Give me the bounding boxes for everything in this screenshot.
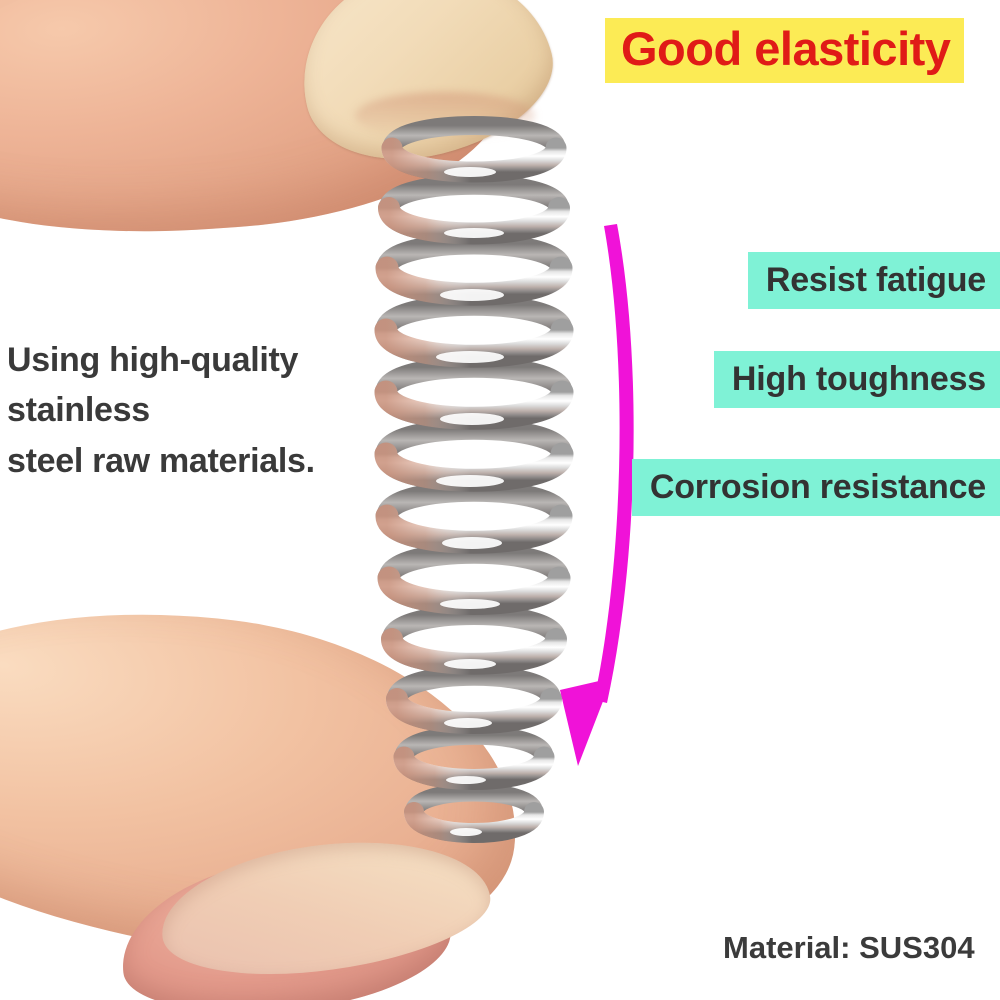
material-description-line-2: steel raw materials. — [7, 436, 437, 486]
feature-chip-resist-fatigue: Resist fatigue — [748, 252, 1000, 309]
feature-chip-corrosion-resistance: Corrosion resistance — [632, 459, 1000, 516]
product-image-canvas: Good elasticity Resist fatigue High toug… — [0, 0, 1000, 1000]
material-spec-label: Material: SUS304 — [723, 930, 975, 966]
material-description: Using high-quality stainless steel raw m… — [7, 335, 437, 486]
material-description-line-1: Using high-quality stainless — [7, 335, 437, 436]
title-banner: Good elasticity — [605, 18, 964, 83]
feature-chip-high-toughness: High toughness — [714, 351, 1000, 408]
